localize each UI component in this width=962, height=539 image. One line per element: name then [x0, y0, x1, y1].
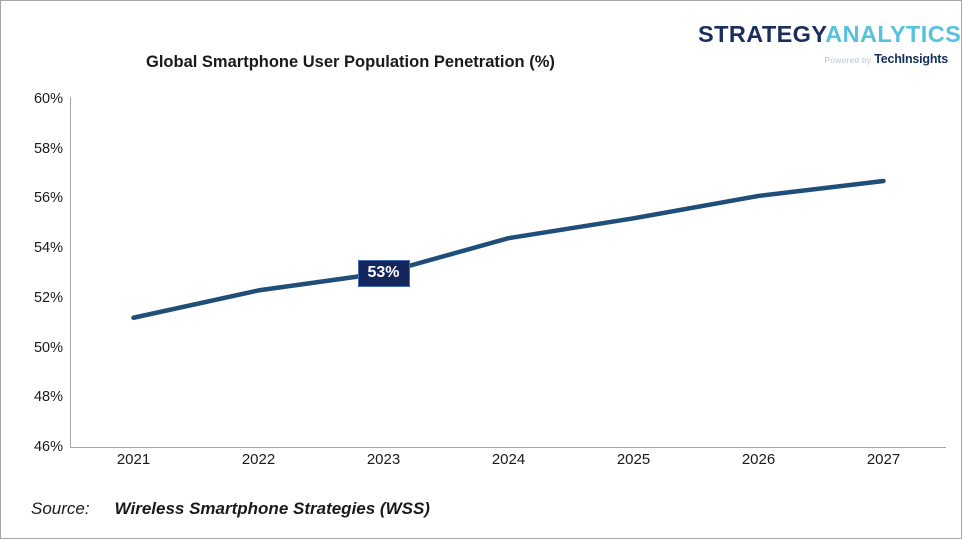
x-tick-label: 2023 — [367, 451, 400, 468]
x-tick-label: 2025 — [617, 451, 650, 468]
data-label-2023: 53% — [358, 260, 410, 287]
chart-page: STRATEGYANALYTICS Powered by TechInsight… — [0, 0, 962, 539]
x-tick-label: 2024 — [492, 451, 525, 468]
x-tick-label: 2022 — [242, 451, 275, 468]
source-value: Wireless Smartphone Strategies (WSS) — [115, 499, 430, 519]
source-note: Source: Wireless Smartphone Strategies (… — [31, 499, 430, 519]
x-tick-label: 2026 — [742, 451, 775, 468]
x-tick-label: 2027 — [867, 451, 900, 468]
x-axis-tick-labels: 2021202220232024202520262027 — [1, 1, 962, 539]
source-label: Source: — [31, 499, 90, 519]
x-tick-label: 2021 — [117, 451, 150, 468]
